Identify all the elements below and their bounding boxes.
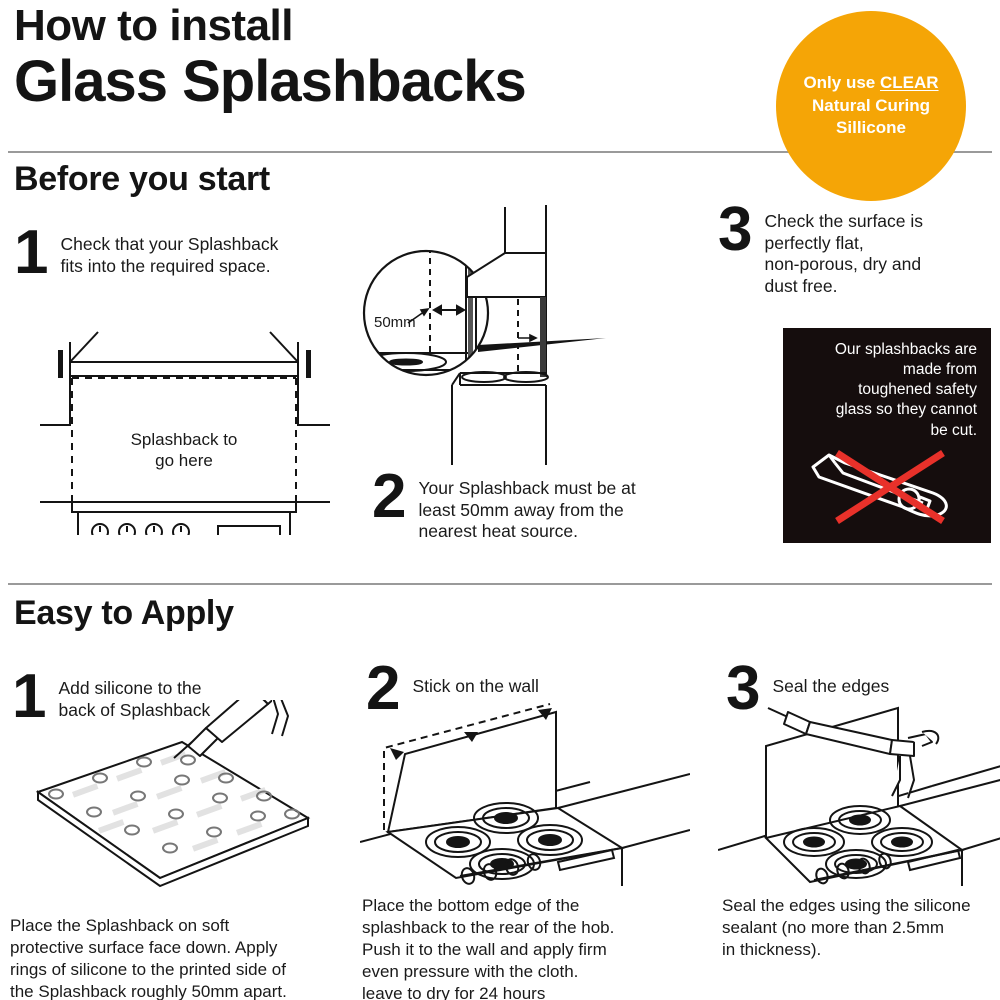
poster-title: How to install Glass Splashbacks <box>14 4 754 113</box>
step-number: 1 <box>14 228 48 279</box>
badge-line-3: Sillicone <box>836 118 906 137</box>
caulk-gun-icon <box>174 700 302 758</box>
step-text: Check that your Splashback fits into the… <box>60 228 278 277</box>
red-cross-icon <box>837 453 943 521</box>
warning-box-no-cutting: Our splashbacks are made from toughened … <box>783 328 991 543</box>
badge-line-1-emphasis: CLEAR <box>880 73 939 92</box>
caption-apply-1: Place the Splashback on soft protective … <box>10 915 340 1000</box>
badge-line-2: Natural Curing <box>812 96 930 115</box>
section-heading-before-you-start: Before you start <box>14 160 270 199</box>
section-heading-easy-to-apply: Easy to Apply <box>14 594 234 633</box>
figure-heat-clearance: 50mm <box>360 205 690 465</box>
step-before-2: 2 Your Splashback must be at least 50mm … <box>372 472 636 543</box>
figure-label-50mm: 50mm <box>374 314 416 331</box>
step-text: Check the surface is perfectly flat, non… <box>764 205 923 298</box>
poster-root: How to install Glass Splashbacks Only us… <box>0 0 1000 1000</box>
divider-middle <box>8 583 992 585</box>
figure-splashback-space: Splashback to go here <box>40 320 330 535</box>
step-before-3: 3 Check the surface is perfectly flat, n… <box>718 205 923 298</box>
badge-text: Only use CLEAR Natural Curing Sillicone <box>793 72 948 139</box>
badge-line-1-pre: Only use <box>803 73 880 92</box>
title-line-1: How to install <box>14 4 754 48</box>
figure-stick-on-wall <box>360 690 690 890</box>
step-number: 3 <box>718 205 752 256</box>
caption-apply-2: Place the bottom edge of the splashback … <box>362 895 682 1000</box>
figure-label-line-1: Splashback to <box>131 430 238 449</box>
step-number: 2 <box>372 472 406 523</box>
title-line-2: Glass Splashbacks <box>14 52 754 113</box>
step-text: Your Splashback must be at least 50mm aw… <box>418 472 635 543</box>
step-before-1: 1 Check that your Splashback fits into t… <box>14 228 278 279</box>
warning-text: Our splashbacks are made from toughened … <box>783 328 991 441</box>
figure-label-line-2: go here <box>155 451 213 470</box>
caption-apply-3: Seal the edges using the silicone sealan… <box>722 895 1000 961</box>
figure-seal-edges <box>718 690 1000 890</box>
clear-silicone-badge: Only use CLEAR Natural Curing Sillicone <box>776 11 966 201</box>
figure-apply-silicone <box>20 700 340 900</box>
utility-knife-icon <box>813 453 946 521</box>
